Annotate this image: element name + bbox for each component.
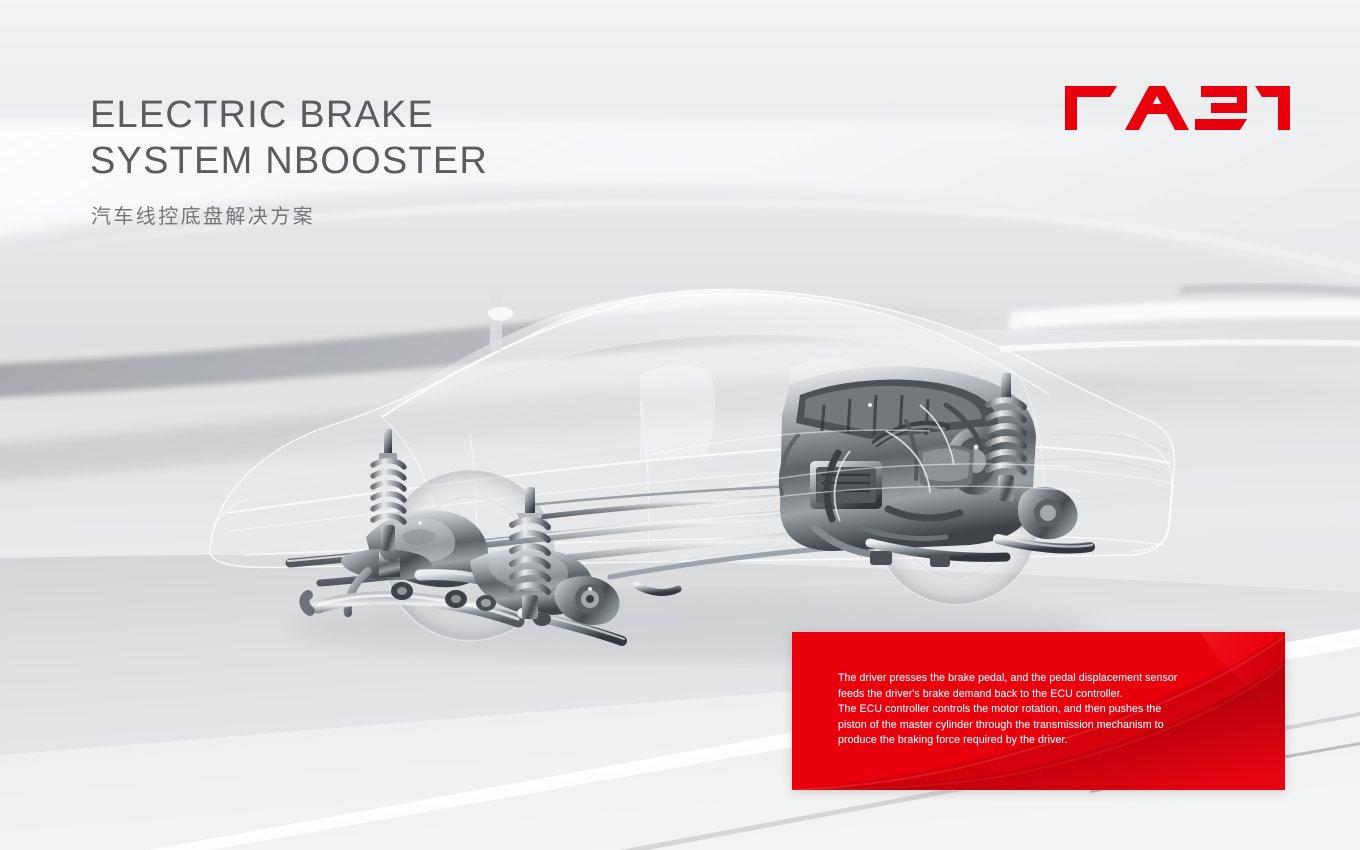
- callout-body-text: The driver presses the brake pedal, and …: [838, 671, 1263, 749]
- slide-canvas: ELECTRIC BRAKE SYSTEM NBOOSTER 汽车线控底盘解决方…: [0, 0, 1360, 850]
- page-subtitle: 汽车线控底盘解决方案: [91, 200, 315, 229]
- page-title: ELECTRIC BRAKE SYSTEM NBOOSTER: [90, 92, 488, 184]
- hero-car-chassis-illustration: [170, 255, 1180, 675]
- nasn-logo: [1065, 82, 1290, 130]
- nasn-logo-icon: [1065, 82, 1290, 130]
- info-callout-box: The driver presses the brake pedal, and …: [792, 632, 1285, 790]
